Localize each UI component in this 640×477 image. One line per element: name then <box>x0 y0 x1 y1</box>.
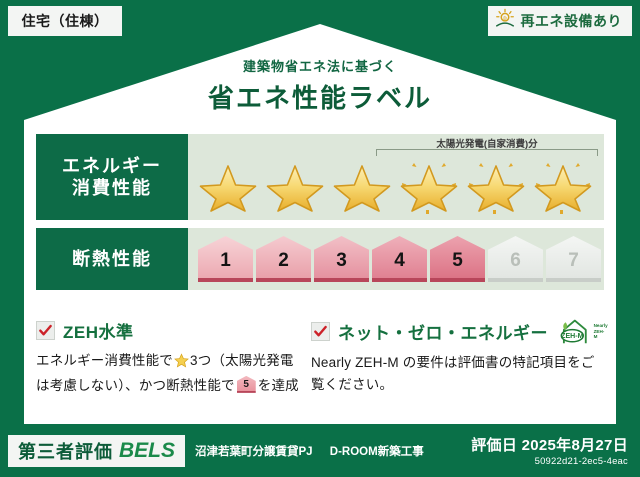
insulation-badge-2: 2 <box>256 236 311 282</box>
bels-jp-label: 第三者評価 <box>18 438 113 464</box>
energy-performance-label: エネルギー 消費性能 <box>36 134 188 220</box>
insulation-badge-number: 7 <box>568 250 579 272</box>
project-names: 沼津若葉町分譲賃貸PJ D-ROOM新築工事 <box>195 443 424 459</box>
zeh-m-logo-sub: NearlyZEH-M <box>594 323 608 340</box>
evaluation-info: 評価日 2025年8月27日 50922d21-2ec5-4eac <box>471 434 628 467</box>
insulation-badge-7: 7 <box>546 236 601 282</box>
zeh-text-c: は考慮しない）、かつ断熱性能で <box>36 378 235 393</box>
star-base <box>263 154 330 216</box>
energy-label-card: 住宅（住棟） D 再エネ設備あり 建築物省エネ法に基づく 省エネ性能ラベル <box>0 0 640 477</box>
svg-text:ZEH-M: ZEH-M <box>561 333 583 340</box>
rating-rows: エネルギー 消費性能 太陽光発電(自家消費)分 <box>36 134 604 298</box>
insulation-badges: 1234567 <box>198 236 601 282</box>
project-name-2: D-ROOM新築工事 <box>330 446 424 458</box>
star-base <box>330 154 397 216</box>
insulation-badge-number: 5 <box>452 250 463 272</box>
star-base <box>196 154 263 216</box>
bels-box: 第三者評価 BELS <box>8 435 185 467</box>
energy-performance-body: 太陽光発電(自家消費)分 <box>188 134 604 220</box>
title-block: 建築物省エネ法に基づく 省エネ性能ラベル <box>0 56 640 115</box>
zeh-standard-header: ZEH水準 <box>36 318 301 343</box>
net-zero-title: ネット・ゼロ・エネルギー <box>338 319 548 344</box>
footer-bar: 第三者評価 BELS 沼津若葉町分譲賃貸PJ D-ROOM新築工事 評価日 20… <box>0 424 640 477</box>
zeh-standard-text: エネルギー消費性能で3つ（太陽光発電は考慮しない）、かつ断熱性能で5を達成 <box>36 350 301 397</box>
zeh-m-logo-icon: ZEH-M NearlyZEH-M <box>558 318 608 345</box>
page-title: 省エネ性能ラベル <box>0 78 640 115</box>
insulation-badge-number: 3 <box>336 250 347 272</box>
star-solar <box>464 154 531 216</box>
renewable-badge-label: 再エネ設備あり <box>521 11 623 31</box>
bels-en-label: BELS <box>119 439 175 463</box>
insulation-badge-number: 4 <box>394 250 405 272</box>
insulation-performance-row: 断熱性能 1234567 <box>36 228 604 290</box>
star-rating <box>188 154 604 216</box>
energy-performance-row: エネルギー 消費性能 太陽光発電(自家消費)分 <box>36 134 604 220</box>
sun-icon: D <box>494 8 516 35</box>
title-subtitle: 建築物省エネ法に基づく <box>0 56 640 75</box>
zeh-text-a: エネルギー消費性能で <box>36 353 173 368</box>
zeh-standard-title: ZEH水準 <box>63 318 134 343</box>
insulation-badge-6: 6 <box>488 236 543 282</box>
net-zero-energy-panel: ネット・ゼロ・エネルギー ZEH-M NearlyZEH-M Nearly ZE… <box>311 318 608 397</box>
inline-star-icon <box>174 353 189 375</box>
zeh-text-b: 3つ（太陽光発電 <box>190 353 294 368</box>
insulation-badge-3: 3 <box>314 236 369 282</box>
check-icon <box>311 322 330 341</box>
net-zero-text: Nearly ZEH-M の要件は評価書の特記項目をご覧ください。 <box>311 352 608 396</box>
renewable-energy-badge: D 再エネ設備あり <box>488 6 633 36</box>
insulation-badge-number: 1 <box>220 250 231 272</box>
inline-badge-num: 5 <box>237 378 256 391</box>
house-type-label: 住宅（住棟） <box>22 11 109 31</box>
insulation-badge-5: 5 <box>430 236 485 282</box>
check-icon <box>36 321 55 340</box>
net-zero-header: ネット・ゼロ・エネルギー ZEH-M NearlyZEH-M <box>311 318 608 345</box>
evaluation-date: 評価日 2025年8月27日 <box>471 434 628 455</box>
star-solar <box>397 154 464 216</box>
insulation-badge-4: 4 <box>372 236 427 282</box>
evaluation-id: 50922d21-2ec5-4eac <box>471 456 628 467</box>
insulation-performance-body: 1234567 <box>188 228 604 290</box>
insulation-badge-number: 2 <box>278 250 289 272</box>
insulation-badge-number: 6 <box>510 250 521 272</box>
star-solar <box>531 154 598 216</box>
insulation-performance-label: 断熱性能 <box>36 228 188 290</box>
zeh-standard-panel: ZEH水準 エネルギー消費性能で3つ（太陽光発電は考慮しない）、かつ断熱性能で5… <box>36 318 301 397</box>
zeh-text-d: を達成 <box>258 378 299 393</box>
solar-note-label: 太陽光発電(自家消費)分 <box>376 136 598 150</box>
house-type-tag: 住宅（住棟） <box>8 6 122 36</box>
zeh-panels: ZEH水準 エネルギー消費性能で3つ（太陽光発電は考慮しない）、かつ断熱性能で5… <box>36 318 608 397</box>
inline-insulation-badge: 5 <box>237 376 256 393</box>
insulation-badge-1: 1 <box>198 236 253 282</box>
project-name-1: 沼津若葉町分譲賃貸PJ <box>195 446 313 458</box>
